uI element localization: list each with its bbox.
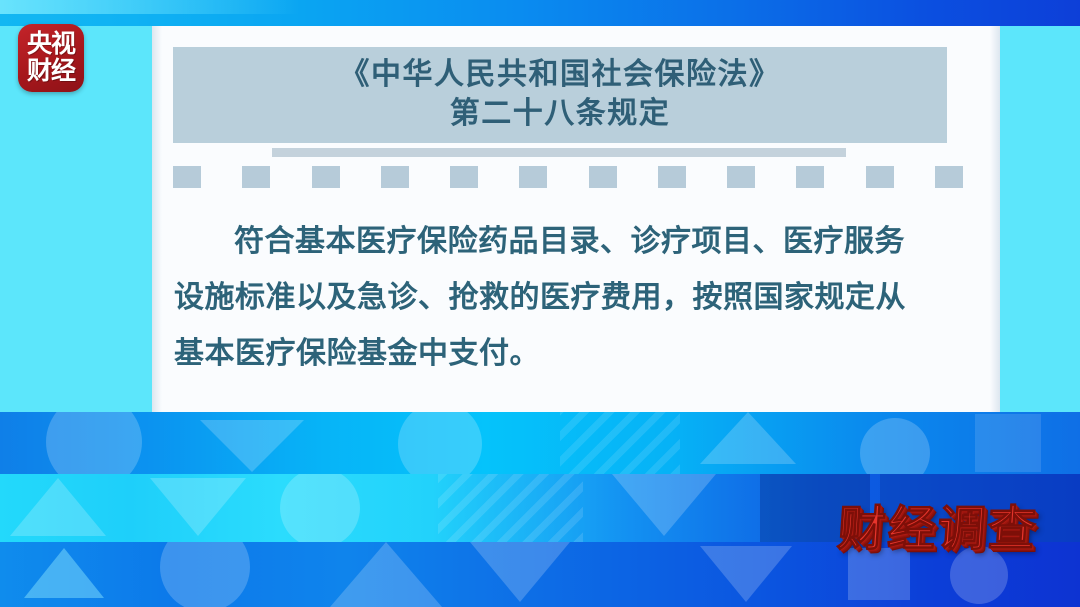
- mosaic-shape-checkmark: [700, 546, 792, 602]
- mosaic-shape-chevron: [10, 478, 106, 536]
- decor-square: [173, 166, 201, 188]
- decor-square: [727, 166, 755, 188]
- mosaic-shape-stripes: [438, 474, 583, 542]
- right-cyan-rail: [1000, 26, 1080, 412]
- mosaic-shape-chevron: [470, 542, 570, 602]
- cctv-logo-line-1: 央视: [27, 30, 75, 59]
- mosaic-shape-arrow: [24, 548, 104, 598]
- cctv-finance-logo: 央视 财经: [18, 24, 84, 92]
- title-underline-bar: [272, 148, 846, 157]
- law-body-line-2: 设施标准以及急诊、抢救的医疗费用，按照国家规定从: [174, 270, 964, 326]
- card-right-edge-shade: [990, 26, 1000, 412]
- law-body-text: 符合基本医疗保险药品目录、诊疗项目、医疗服务 设施标准以及急诊、抢救的医疗费用，…: [174, 214, 964, 382]
- decorative-square-row: [173, 166, 963, 188]
- law-title-banner: 《中华人民共和国社会保险法》 第二十八条规定: [173, 47, 947, 143]
- mosaic-shape-circle: [280, 474, 360, 542]
- mosaic-shape-triangle: [612, 474, 716, 536]
- decor-square: [658, 166, 686, 188]
- mosaic-band-top: [0, 412, 1080, 474]
- broadcast-frame: 《中华人民共和国社会保险法》 第二十八条规定 符合基本医疗保险药品目录、诊疗项目…: [0, 0, 1080, 607]
- top-strip-highlight: [0, 0, 300, 14]
- decor-square: [589, 166, 617, 188]
- law-body-line-1: 符合基本医疗保险药品目录、诊疗项目、医疗服务: [174, 214, 964, 270]
- decor-square: [796, 166, 824, 188]
- law-title-line-1: 《中华人民共和国社会保险法》: [340, 57, 781, 94]
- mosaic-shape-circle: [860, 418, 930, 474]
- decor-square: [450, 166, 478, 188]
- mosaic-shape-circle: [46, 412, 142, 474]
- decor-square: [866, 166, 894, 188]
- top-gradient-strip: [0, 0, 1080, 26]
- law-title-line-2: 第二十八条规定: [450, 96, 671, 133]
- decor-square: [519, 166, 547, 188]
- mosaic-shape-triangle: [700, 412, 796, 464]
- mosaic-shape-stripes: [560, 412, 680, 474]
- mosaic-shape-square: [975, 414, 1041, 472]
- mosaic-shape-circle: [398, 412, 482, 474]
- cctv-logo-line-2: 财经: [27, 57, 75, 86]
- mosaic-shape-triangle: [330, 542, 442, 607]
- decor-square: [242, 166, 270, 188]
- program-title-logo: 财经调查: [836, 489, 1041, 559]
- content-card: 《中华人民共和国社会保险法》 第二十八条规定 符合基本医疗保险药品目录、诊疗项目…: [152, 26, 1000, 412]
- mosaic-shape-triangle: [200, 420, 304, 472]
- mosaic-shape-chevron: [150, 478, 246, 536]
- card-left-edge-shade: [152, 26, 162, 412]
- mosaic-shape-circle: [160, 542, 250, 607]
- decor-square: [381, 166, 409, 188]
- decor-square: [312, 166, 340, 188]
- decor-square: [935, 166, 963, 188]
- law-body-line-3: 基本医疗保险基金中支付。: [174, 326, 964, 382]
